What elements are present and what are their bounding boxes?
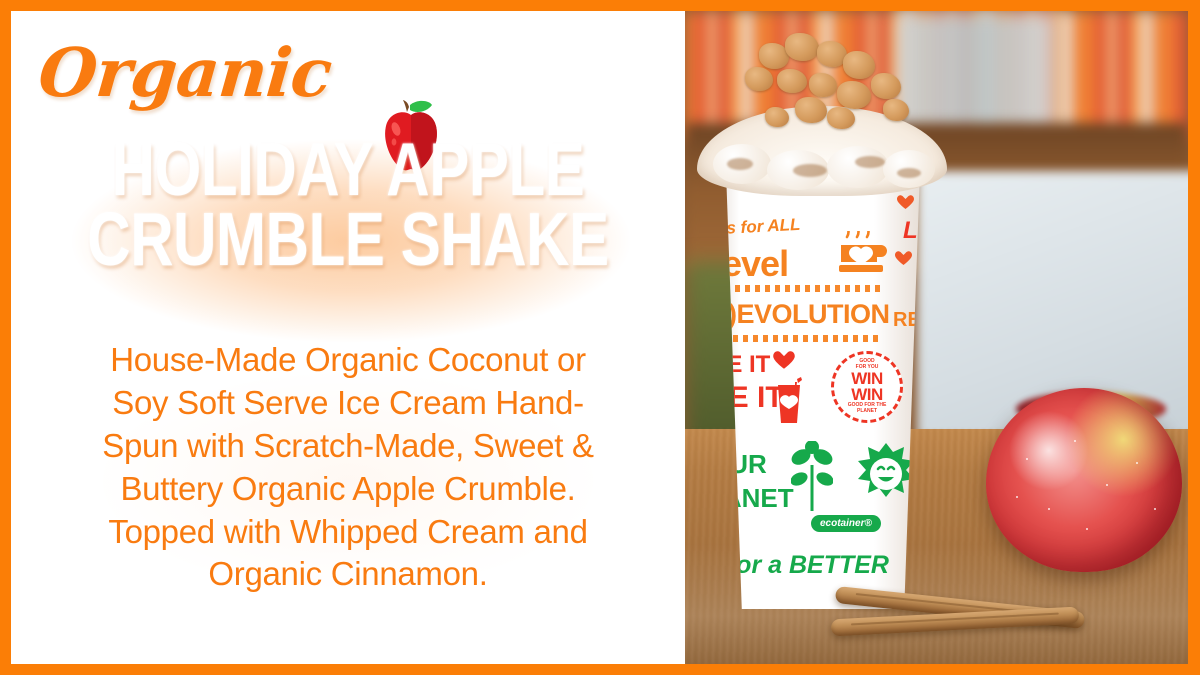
- page-title: HOLIDAY APPLE CRUMBLE SHAKE: [11, 135, 685, 275]
- cup-text-revolution: R)EVOLUTION: [709, 299, 890, 330]
- headline-line-1: HOLIDAY APPLE: [78, 135, 617, 205]
- badge-main-2: WIN: [851, 387, 883, 403]
- smiling-sun-icon: [855, 443, 917, 505]
- description-line-6: Organic Cinnamon.: [45, 553, 651, 596]
- badge-bottom-text: GOOD FOR THE PLANET: [848, 403, 887, 415]
- text-panel: Organic HOLIDAY APPLE CRUMBLE SHAKE Hous…: [11, 11, 685, 664]
- description-line-1: House-Made Organic Coconut or: [45, 339, 651, 382]
- cup-text-for-all: ss for ALL: [717, 215, 801, 239]
- description-line-4: Buttery Organic Apple Crumble.: [45, 468, 651, 511]
- description-text: House-Made Organic Coconut or Soy Soft S…: [45, 339, 651, 596]
- cup-wave-divider-1: [715, 285, 885, 292]
- description-line-2: Soy Soft Serve Ice Cream Hand-: [45, 382, 651, 425]
- branded-paper-cup: ss for ALL level R)EVOLUTION RETH Lo: [707, 159, 939, 609]
- cup-printed-artwork: ss for ALL level R)EVOLUTION RETH Lo: [707, 159, 939, 609]
- ecotainer-logo: ecotainer®: [811, 515, 881, 532]
- description-line-3: Spun with Scratch-Made, Sweet &: [45, 425, 651, 468]
- drink-cup-icon: [775, 377, 805, 425]
- heart-icon: [895, 251, 912, 266]
- red-apple: [986, 388, 1182, 572]
- sprout-icon: [791, 441, 833, 513]
- eyebrow-organic: Organic: [36, 39, 334, 106]
- cup-wave-divider-2: [713, 335, 883, 342]
- description-line-5: Topped with Whipped Cream and: [45, 511, 651, 554]
- background-stripes-gray: [897, 11, 1057, 139]
- heart-icon: [773, 351, 795, 370]
- promo-ad: Organic HOLIDAY APPLE CRUMBLE SHAKE Hous…: [0, 0, 1200, 675]
- headline-line-2: CRUMBLE SHAKE: [78, 205, 617, 275]
- heart-icon: [897, 195, 914, 210]
- win-win-badge: GOOD FOR YOU WIN WIN GOOD FOR THE PLANET: [831, 351, 903, 423]
- product-photo: ss for ALL level R)EVOLUTION RETH Lo: [685, 11, 1188, 664]
- steaming-cup-heart-icon: [835, 231, 893, 277]
